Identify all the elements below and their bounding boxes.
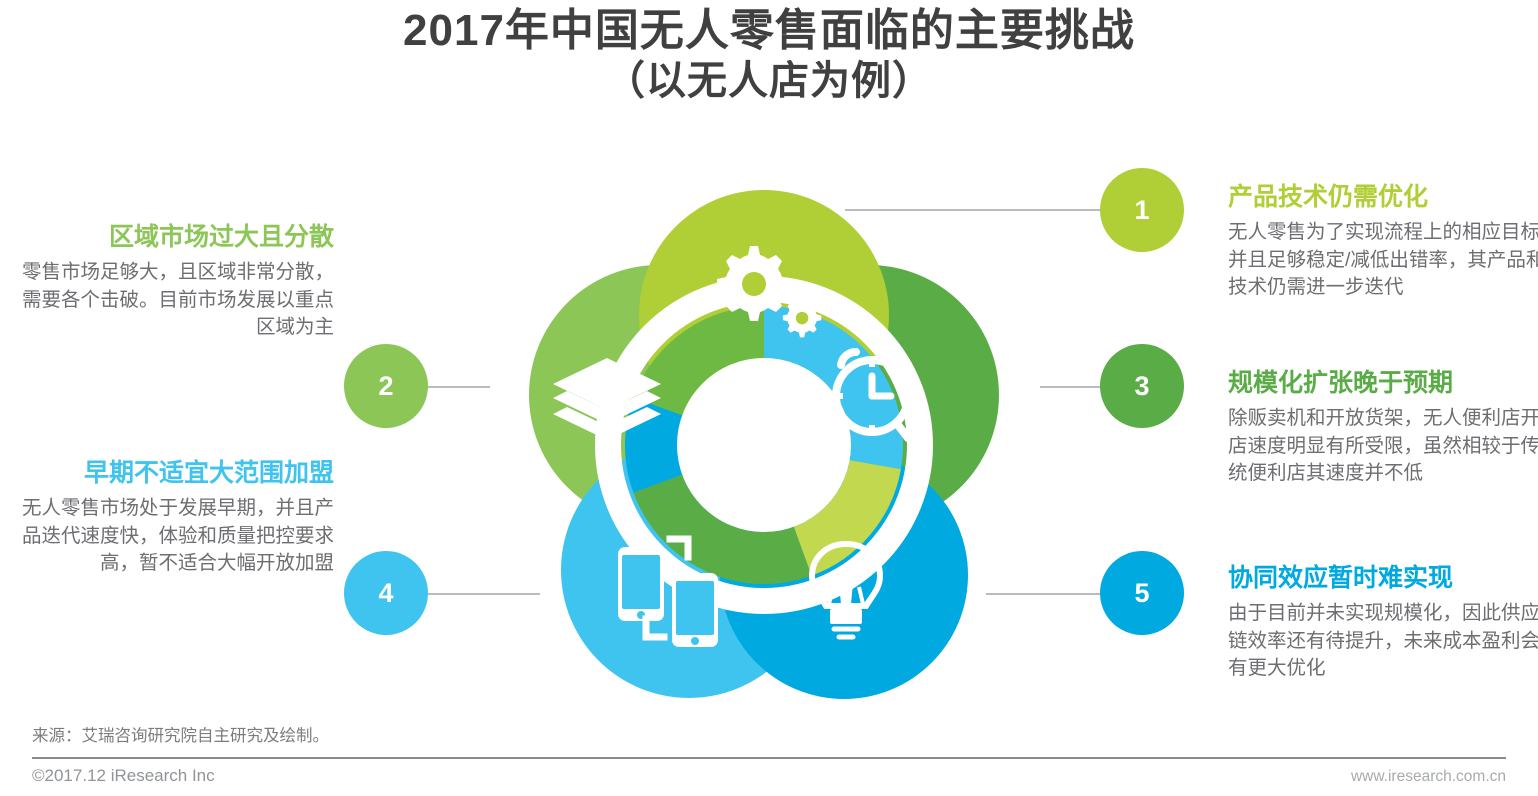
challenge-2-heading: 区域市场过大且分散 (14, 222, 334, 252)
footer-divider (32, 757, 1506, 759)
title-sub-line: （以无人店为例） (0, 58, 1538, 104)
challenge-3-body: 除贩卖机和开放货架，无人便利店开店速度明显有所受限，虽然相较于传统便利店其速度并… (1228, 405, 1538, 488)
badge-number-3[interactable]: 3 (1100, 344, 1184, 428)
challenge-4-heading: 早期不适宜大范围加盟 (14, 458, 334, 488)
challenge-block-3: 规模化扩张晚于预期 除贩卖机和开放货架，无人便利店开店速度明显有所受限，虽然相较… (1228, 368, 1538, 488)
challenge-5-body: 由于目前并未实现规模化，因此供应链效率还有待提升，未来成本盈利会有更大优化 (1228, 600, 1538, 683)
badge-number-4[interactable]: 4 (344, 551, 428, 635)
badge-4-label: 4 (378, 578, 393, 609)
badge-number-2[interactable]: 2 (344, 344, 428, 428)
central-donut-diagram (474, 160, 1054, 705)
challenge-block-5: 协同效应暂时难实现 由于目前并未实现规模化，因此供应链效率还有待提升，未来成本盈… (1228, 563, 1538, 683)
challenge-block-4: 早期不适宜大范围加盟 无人零售市场处于发展早期，并且产品迭代速度快，体验和质量把… (14, 458, 334, 578)
challenge-3-heading: 规模化扩张晚于预期 (1228, 368, 1538, 398)
badge-5-label: 5 (1134, 578, 1149, 609)
challenge-block-1: 产品技术仍需优化 无人零售为了实现流程上的相应目标并且足够稳定/减低出错率，其产… (1228, 182, 1538, 302)
challenge-1-body: 无人零售为了实现流程上的相应目标并且足够稳定/减低出错率，其产品和技术仍需进一步… (1228, 219, 1538, 302)
challenge-4-body: 无人零售市场处于发展早期，并且产品迭代速度快，体验和质量把控要求高，暂不适合大幅… (14, 495, 334, 578)
page-title: 2017年中国无人零售面临的主要挑战 （以无人店为例） (0, 6, 1538, 105)
footer-copyright: ©2017.12 iResearch Inc (32, 766, 215, 786)
challenge-block-2: 区域市场过大且分散 零售市场足够大，且区域非常分散，需要各个击破。目前市场发展以… (14, 222, 334, 342)
badge-3-label: 3 (1134, 371, 1149, 402)
badge-2-label: 2 (378, 371, 393, 402)
title-main-line: 2017年中国无人零售面临的主要挑战 (0, 6, 1538, 56)
challenge-2-body: 零售市场足够大，且区域非常分散，需要各个击破。目前市场发展以重点区域为主 (14, 259, 334, 342)
footer-url: www.iresearch.com.cn (1351, 768, 1506, 786)
source-note: 来源：艾瑞咨询研究院自主研究及绘制。 (32, 722, 329, 746)
challenge-5-heading: 协同效应暂时难实现 (1228, 563, 1538, 593)
badge-1-label: 1 (1134, 195, 1149, 226)
badge-number-1[interactable]: 1 (1100, 168, 1184, 252)
challenge-1-heading: 产品技术仍需优化 (1228, 182, 1538, 212)
badge-number-5[interactable]: 5 (1100, 551, 1184, 635)
